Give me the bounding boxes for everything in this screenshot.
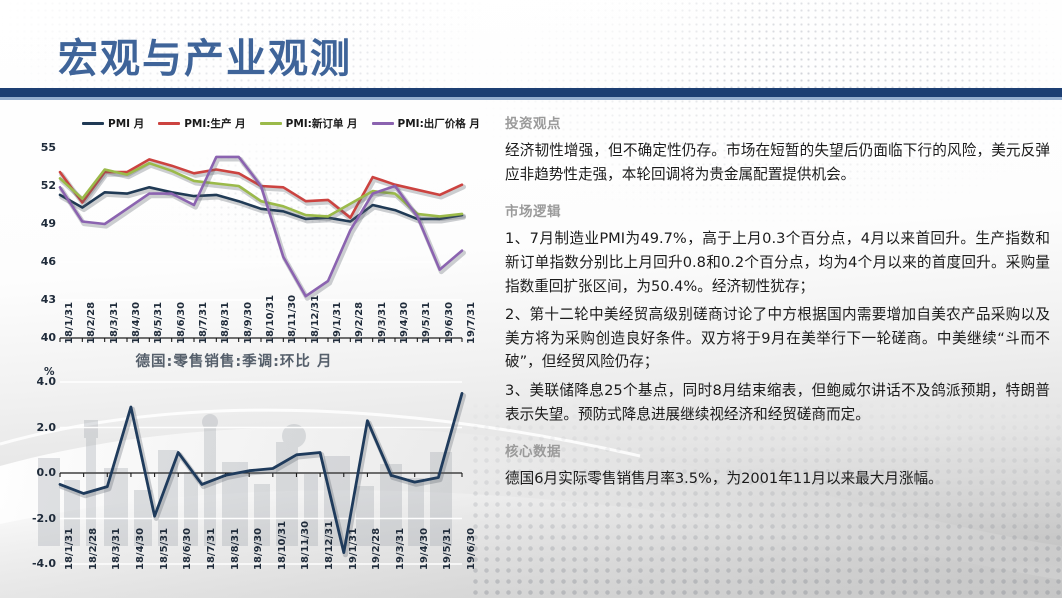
x-axis-tick-label: 18/1/31 bbox=[64, 528, 75, 570]
x-axis-tick-label: 19/6/30 bbox=[444, 302, 455, 344]
y-axis-tick-label: 2.0 bbox=[28, 421, 56, 434]
x-axis-tick-label: 18/8/31 bbox=[230, 528, 241, 570]
x-axis-tick-label: 19/6/30 bbox=[466, 528, 477, 570]
pmi-chart-plot: 40434649525518/1/3118/2/2818/3/3118/4/30… bbox=[26, 142, 468, 342]
legend-item-label: PMI 月 bbox=[108, 116, 144, 131]
x-axis-tick-label: 18/7/31 bbox=[198, 302, 209, 344]
commentary-section-heading: 投资观点 bbox=[505, 112, 1050, 132]
commentary-section: 市场逻辑1、7月制造业PMI为49.7%，高于上月0.3个百分点，4月以来首回升… bbox=[505, 200, 1050, 426]
x-axis-tick-label: 18/10/31 bbox=[265, 295, 276, 344]
legend-item: PMI 月 bbox=[82, 116, 144, 131]
x-axis-tick-label: 18/7/31 bbox=[206, 528, 217, 570]
x-axis-tick-label: 18/2/28 bbox=[86, 302, 97, 344]
header-rule bbox=[0, 88, 1062, 97]
commentary-paragraph: 1、7月制造业PMI为49.7%，高于上月0.3个百分点，4月以来首回升。生产指… bbox=[505, 227, 1050, 298]
x-axis-tick-label: 19/2/28 bbox=[371, 528, 382, 570]
x-axis-tick-label: 18/3/31 bbox=[109, 302, 120, 344]
commentary-section-body: 经济韧性增强，但不确定性仍存。市场在短暂的失望后仍面临下行的风险，美元反弹应非趋… bbox=[505, 139, 1050, 186]
commentary-section: 投资观点经济韧性增强，但不确定性仍存。市场在短暂的失望后仍面临下行的风险，美元反… bbox=[505, 112, 1050, 186]
slide-root: 宏观与产业观测 PMI 月PMI:生产 月PMI:新订单 月PMI:出厂价格 月… bbox=[0, 0, 1062, 598]
x-axis-tick-label: 19/1/31 bbox=[348, 528, 359, 570]
commentary-paragraph: 德国6月实际零售销售月率3.5%，为2001年11月以来最大月涨幅。 bbox=[505, 467, 1050, 491]
x-axis-tick-label: 18/4/30 bbox=[131, 302, 142, 344]
x-axis-tick-label: 19/2/28 bbox=[354, 302, 365, 344]
retail-chart-plot: -4.0-2.00.02.04.018/1/3118/2/2818/3/3118… bbox=[26, 376, 468, 568]
x-axis-tick-label: 18/6/30 bbox=[176, 302, 187, 344]
y-axis-tick-label: 43 bbox=[28, 293, 56, 306]
x-axis-tick-label: 19/5/31 bbox=[421, 302, 432, 344]
x-axis-tick-label: 18/2/28 bbox=[88, 528, 99, 570]
legend-swatch-icon bbox=[82, 122, 104, 125]
x-axis-tick-label: 18/5/31 bbox=[153, 302, 164, 344]
commentary-paragraph: 2、第十二轮中美经贸高级别磋商讨论了中方根据国内需要增加自美农产品采购以及美方将… bbox=[505, 303, 1050, 374]
x-axis-tick-label: 18/9/30 bbox=[243, 302, 254, 344]
legend-item-label: PMI:生产 月 bbox=[184, 116, 245, 131]
legend-item-label: PMI:出厂价格 月 bbox=[398, 116, 480, 131]
x-axis-tick-label: 18/8/31 bbox=[220, 302, 231, 344]
x-axis-tick-label: 19/3/31 bbox=[395, 528, 406, 570]
legend-item: PMI:出厂价格 月 bbox=[372, 116, 480, 131]
y-axis-tick-label: 55 bbox=[28, 141, 56, 154]
y-axis-tick-label: 52 bbox=[28, 179, 56, 192]
series-shadow bbox=[62, 159, 464, 298]
x-axis-tick-label: 18/11/30 bbox=[287, 295, 298, 344]
retail-chart-title: 德国:零售销售:季调:环比 月 bbox=[0, 350, 468, 371]
x-axis-tick-label: 18/4/30 bbox=[135, 528, 146, 570]
y-axis-tick-label: 4.0 bbox=[28, 375, 56, 388]
series-line bbox=[60, 157, 462, 296]
commentary-section-body: 1、7月制造业PMI为49.7%，高于上月0.3个百分点，4月以来首回升。生产指… bbox=[505, 227, 1050, 426]
commentary-paragraph: 3、美联储降息25个基点，同时8月结束缩表，但鲍威尔讲话不及鸽派预期，特朗普表示… bbox=[505, 379, 1050, 426]
y-axis-tick-label: 49 bbox=[28, 217, 56, 230]
legend-item: PMI:新订单 月 bbox=[260, 116, 358, 131]
legend-swatch-icon bbox=[372, 122, 394, 125]
x-axis-tick-label: 19/4/30 bbox=[399, 302, 410, 344]
x-axis-tick-label: 18/12/31 bbox=[310, 295, 321, 344]
chart-column: PMI 月PMI:生产 月PMI:新订单 月PMI:出厂价格 月 4043464… bbox=[0, 104, 480, 598]
legend-item-label: PMI:新订单 月 bbox=[286, 116, 358, 131]
y-axis-tick-label: 0.0 bbox=[28, 466, 56, 479]
x-axis-tick-label: 18/1/31 bbox=[64, 302, 75, 344]
legend-item: PMI:生产 月 bbox=[158, 116, 245, 131]
x-axis-tick-label: 18/12/31 bbox=[324, 521, 335, 570]
x-axis-tick-label: 18/10/31 bbox=[277, 521, 288, 570]
x-axis-tick-label: 19/5/31 bbox=[442, 528, 453, 570]
x-axis-tick-label: 19/1/31 bbox=[332, 302, 343, 344]
y-axis-tick-label: 40 bbox=[28, 331, 56, 344]
pmi-chart-legend: PMI 月PMI:生产 月PMI:新订单 月PMI:出厂价格 月 bbox=[82, 116, 480, 131]
header-bar: 宏观与产业观测 bbox=[0, 0, 1062, 97]
x-axis-tick-label: 18/11/30 bbox=[300, 521, 311, 570]
x-axis-tick-label: 18/9/30 bbox=[253, 528, 264, 570]
commentary-section-body: 德国6月实际零售销售月率3.5%，为2001年11月以来最大月涨幅。 bbox=[505, 467, 1050, 491]
page-title: 宏观与产业观测 bbox=[58, 26, 352, 84]
commentary-section-heading: 核心数据 bbox=[505, 440, 1050, 460]
y-axis-tick-label: -2.0 bbox=[28, 512, 56, 525]
x-axis-tick-label: 18/6/30 bbox=[182, 528, 193, 570]
legend-swatch-icon bbox=[158, 122, 180, 125]
x-axis-tick-label: 19/4/30 bbox=[419, 528, 430, 570]
x-axis-tick-label: 19/7/31 bbox=[466, 302, 477, 344]
legend-swatch-icon bbox=[260, 122, 282, 125]
y-axis-tick-label: -4.0 bbox=[28, 557, 56, 570]
x-axis-tick-label: 18/3/31 bbox=[111, 528, 122, 570]
commentary-section: 核心数据德国6月实际零售销售月率3.5%，为2001年11月以来最大月涨幅。 bbox=[505, 440, 1050, 491]
commentary-panel: 投资观点经济韧性增强，但不确定性仍存。市场在短暂的失望后仍面临下行的风险，美元反… bbox=[505, 112, 1050, 505]
commentary-paragraph: 经济韧性增强，但不确定性仍存。市场在短暂的失望后仍面临下行的风险，美元反弹应非趋… bbox=[505, 139, 1050, 186]
header-rule-secondary bbox=[0, 97, 1062, 100]
y-axis-tick-label: 46 bbox=[28, 255, 56, 268]
x-axis-tick-label: 18/5/31 bbox=[159, 528, 170, 570]
x-axis-tick-label: 19/3/31 bbox=[377, 302, 388, 344]
commentary-section-heading: 市场逻辑 bbox=[505, 200, 1050, 220]
